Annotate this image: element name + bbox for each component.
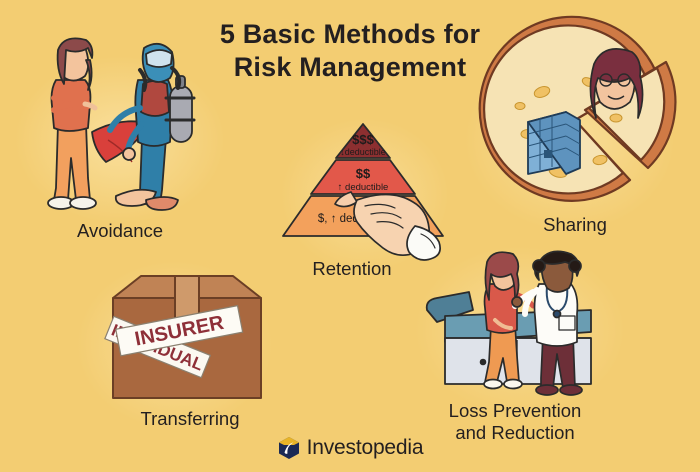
transferring-illustration: INDIVIDUAL INSURER [105,272,270,402]
caption-retention: Retention [272,258,432,280]
investopedia-logo: Investopedia [0,436,700,460]
avoidance-illustration [30,28,210,218]
pyramid-top-amount: $$$ [352,132,374,147]
method-loss-prevention [425,250,625,400]
caption-avoidance: Avoidance [30,220,210,242]
caption-transferring: Transferring [100,408,280,430]
office-building-icon [528,112,580,174]
infographic-canvas: 5 Basic Methods for Risk Management [0,0,700,472]
logo-brand-text: Investopedia [307,436,424,460]
method-avoidance [30,28,210,218]
investopedia-hexagon-icon [277,436,301,460]
retention-pyramid-illustration: $$$ ↓deductible $$ ↑ deductible $, ↑ ded… [275,122,465,252]
pyramid-mid-amount: $$ [356,166,371,181]
method-transferring: INDIVIDUAL INSURER [105,272,270,402]
pyramid-mid-deductible: ↑ deductible [338,182,389,193]
method-sharing [480,30,670,210]
pyramid-top-deductible: ↓deductible [340,147,386,157]
loss-prevention-illustration [425,250,625,400]
method-retention: $$$ ↓deductible $$ ↑ deductible $, ↑ ded… [275,122,465,252]
caption-sharing: Sharing [490,214,660,236]
sharing-illustration [480,30,670,210]
title-line-1: 5 Basic Methods for [220,19,480,49]
